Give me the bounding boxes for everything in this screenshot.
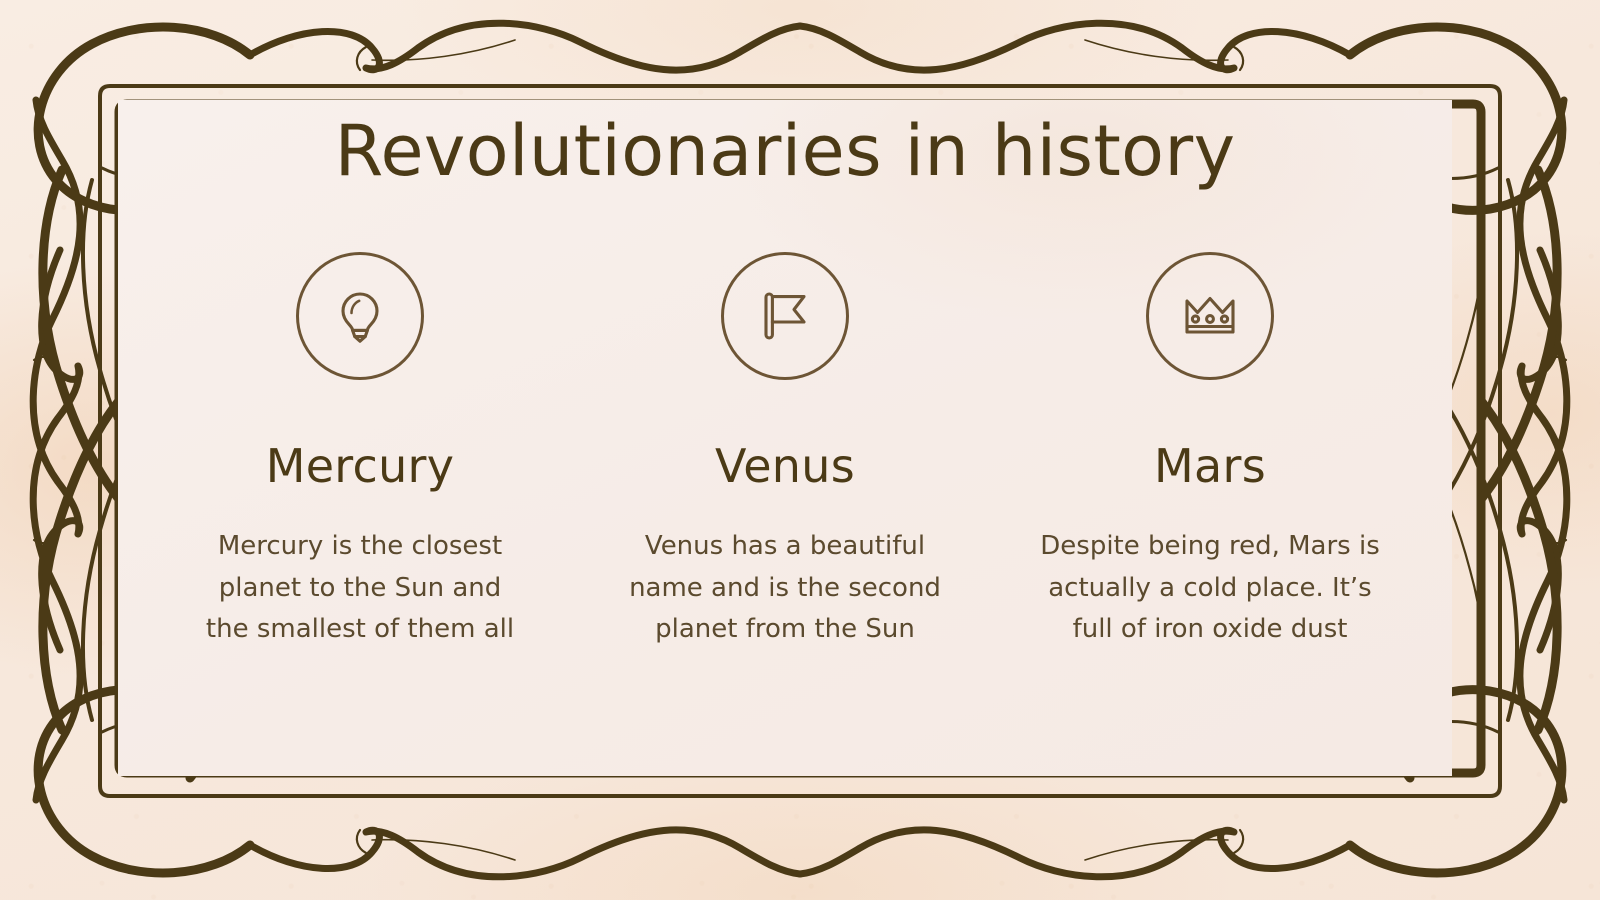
bottom-ornament-hook-left [357, 830, 366, 853]
column-body-mars: Despite being red, Mars is actually a co… [1033, 526, 1388, 651]
column-mercury: Mercury Mercury is the closest planet to… [160, 252, 560, 651]
right-ornament-curve-lower [1520, 100, 1567, 650]
flag-icon-circle [721, 252, 849, 380]
bottom-ornament-wave-left [250, 830, 800, 877]
bottom-ornament-wave-right [800, 830, 1350, 877]
top-ornament-hook-right [1234, 47, 1243, 70]
top-ornament-tail-left [372, 40, 515, 60]
top-ornament-wave-right [800, 23, 1350, 70]
left-ornament-hook-bottom [34, 534, 57, 543]
crown-icon-circle [1146, 252, 1274, 380]
lightbulb-icon-circle [296, 252, 424, 380]
column-title-venus: Venus [715, 442, 855, 490]
column-title-mars: Mars [1154, 442, 1266, 490]
bottom-ornament-hook-right [1234, 830, 1243, 853]
top-ornament-wave-left [250, 23, 800, 70]
left-ornament-hook-top [34, 357, 57, 366]
column-title-mercury: Mercury [266, 442, 455, 490]
column-venus: Venus Venus has a beautiful name and is … [585, 252, 985, 651]
left-ornament-curve [33, 250, 80, 800]
column-mars: Mars Despite being red, Mars is actually… [1010, 252, 1410, 651]
columns-row: Mercury Mercury is the closest planet to… [160, 252, 1410, 651]
top-ornament-tail-right [1085, 40, 1228, 60]
slide: Revolutionaries in history Mercury Me [0, 0, 1600, 900]
column-body-venus: Venus has a beautiful name and is the se… [613, 526, 958, 651]
column-body-mercury: Mercury is the closest planet to the Sun… [195, 526, 525, 651]
flag-icon [753, 284, 817, 348]
page-title: Revolutionaries in history [118, 112, 1452, 190]
slide-content: Revolutionaries in history Mercury Me [118, 100, 1452, 776]
lightbulb-icon [328, 284, 392, 348]
right-ornament-hook-top [1543, 357, 1566, 366]
right-ornament-curve [1520, 250, 1567, 800]
crown-icon [1178, 284, 1242, 348]
right-ornament-hook-bottom [1543, 534, 1566, 543]
bottom-ornament-tail-left [372, 840, 515, 860]
top-ornament-hook-left [357, 47, 366, 70]
left-ornament-curve-lower [33, 100, 80, 650]
bottom-ornament-tail-right [1085, 840, 1228, 860]
